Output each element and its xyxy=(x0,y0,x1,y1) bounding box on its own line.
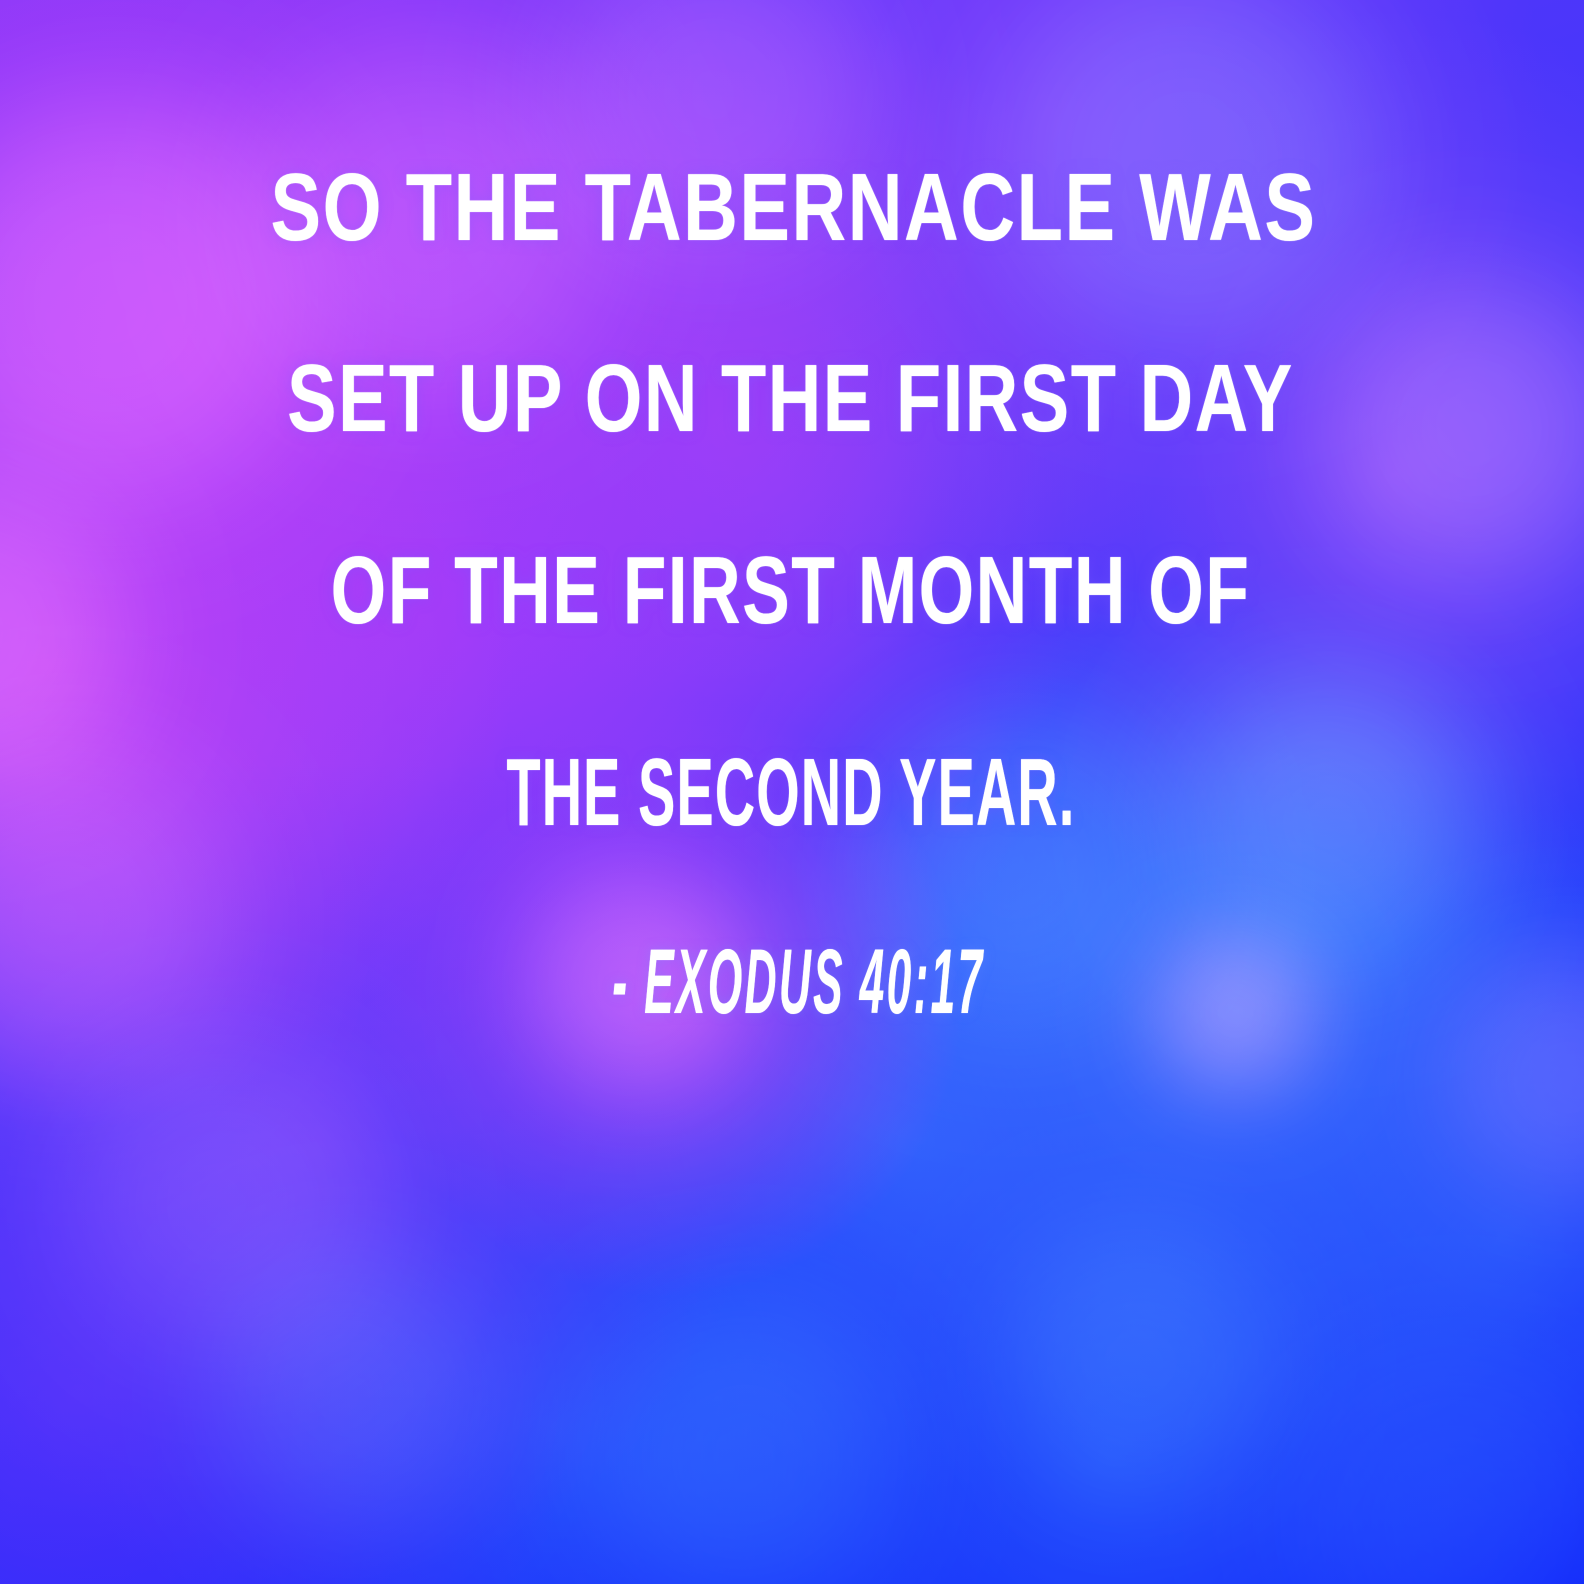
verse-line-3: OF THE FIRST MONTH OF xyxy=(200,543,1380,639)
verse-attribution: - EXODUS 40:17 xyxy=(422,936,1176,1028)
verse-card: SO THE TABERNACLE WAS SET UP ON THE FIRS… xyxy=(0,0,1584,1584)
bokeh-blob-blue-bottom-mid xyxy=(570,1283,918,1584)
bokeh-blob-blue-bottom-right xyxy=(982,1204,1299,1521)
verse-line-2: SET UP ON THE FIRST DAY xyxy=(178,351,1402,447)
bokeh-blob-deep-blue-corner xyxy=(1267,1331,1584,1584)
verse-line-4: THE SECOND YEAR. xyxy=(330,745,1251,841)
bokeh-blob-violet-right-edge xyxy=(1426,935,1584,1220)
bokeh-blob-blue-bottom-left xyxy=(190,1236,507,1553)
verse-line-1: SO THE TABERNACLE WAS xyxy=(170,160,1418,256)
